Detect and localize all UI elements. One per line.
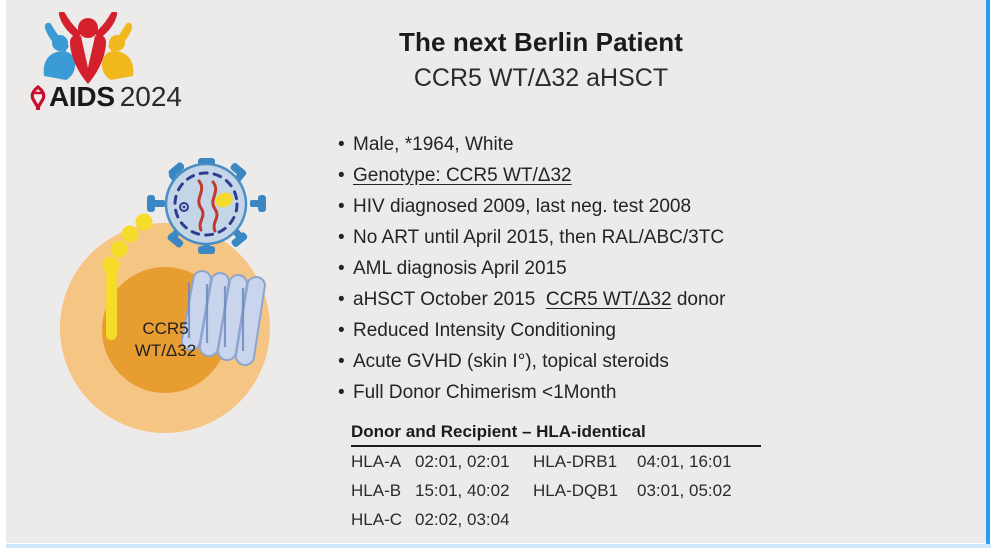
viewer-accent-bar: [986, 0, 990, 546]
bullet-marker-icon: •: [338, 132, 353, 157]
bullet-text: Genotype: CCR5 WT/Δ32: [353, 163, 572, 188]
bullet-marker-icon: •: [338, 287, 353, 312]
bullet-text: aHSCT October 2015 CCR5 WT/Δ32 donor: [353, 287, 725, 312]
bullet-list: • Male, *1964, White • Genotype: CCR5 WT…: [338, 132, 898, 411]
table-row: HLA-C 02:02, 03:04: [351, 505, 761, 534]
hla-locus: HLA-C: [351, 505, 415, 534]
aids-2024-logo: AIDS2024: [28, 12, 198, 112]
hla-table: Donor and Recipient – HLA-identical HLA-…: [351, 421, 761, 534]
table-row: HLA-A 02:01, 02:01 HLA-DRB1 04:01, 16:01: [351, 447, 761, 476]
bullet-marker-icon: •: [338, 194, 353, 219]
aids-ribbon-icon: [28, 82, 48, 110]
bullet-text: HIV diagnosed 2009, last neg. test 2008: [353, 194, 691, 219]
slide-subtitle: CCR5 WT/Δ32 aHSCT: [306, 62, 776, 94]
bullet-marker-icon: •: [338, 256, 353, 281]
hla-locus: HLA-B: [351, 476, 415, 505]
hla-alleles: 02:02, 03:04: [415, 505, 533, 534]
hiv-cell-entry-diagram: CCR5 WT/Δ32: [58, 150, 298, 470]
hla-alleles: 04:01, 16:01: [637, 447, 732, 476]
aids-logo-figures-icon: [36, 12, 141, 84]
bullet-marker-icon: •: [338, 163, 353, 188]
logo-text-year: 2024: [120, 81, 182, 112]
hla-locus: [533, 505, 637, 534]
bullet-item: • Acute GVHD (skin I°), topical steroids: [338, 349, 898, 380]
hla-alleles: 15:01, 40:02: [415, 476, 533, 505]
aids-logo-wordmark: AIDS2024: [28, 82, 182, 112]
bullet-marker-icon: •: [338, 349, 353, 374]
bullet-item: • No ART until April 2015, then RAL/ABC/…: [338, 225, 898, 256]
bullet-text: Male, *1964, White: [353, 132, 514, 157]
diagram-canvas: [58, 150, 298, 470]
bullet-text: Full Donor Chimerism <1Month: [353, 380, 616, 405]
bullet-item: • HIV diagnosed 2009, last neg. test 200…: [338, 194, 898, 225]
slide-title-block: The next Berlin Patient CCR5 WT/Δ32 aHSC…: [306, 26, 776, 94]
hla-locus: HLA-DQB1: [533, 476, 637, 505]
hla-alleles: 03:01, 05:02: [637, 476, 732, 505]
bullet-text: AML diagnosis April 2015: [353, 256, 567, 281]
bullet-item: • Male, *1964, White: [338, 132, 898, 163]
hla-table-header: Donor and Recipient – HLA-identical: [351, 421, 761, 447]
bullet-item: • Full Donor Chimerism <1Month: [338, 380, 898, 411]
table-row: HLA-B 15:01, 40:02 HLA-DQB1 03:01, 05:02: [351, 476, 761, 505]
hla-alleles: 02:01, 02:01: [415, 447, 533, 476]
presentation-slide: AIDS2024 The next Berlin Patient CCR5 WT…: [6, 0, 987, 543]
bullet-item: • AML diagnosis April 2015: [338, 256, 898, 287]
bullet-marker-icon: •: [338, 318, 353, 343]
bullet-text: Reduced Intensity Conditioning: [353, 318, 616, 343]
slide-title: The next Berlin Patient: [306, 26, 776, 58]
hla-locus: HLA-A: [351, 447, 415, 476]
bullet-text: Acute GVHD (skin I°), topical steroids: [353, 349, 669, 374]
logo-text-aids: AIDS: [49, 81, 115, 112]
bullet-marker-icon: •: [338, 380, 353, 405]
hla-locus: HLA-DRB1: [533, 447, 637, 476]
bullet-marker-icon: •: [338, 225, 353, 250]
bullet-item: • aHSCT October 2015 CCR5 WT/Δ32 donor: [338, 287, 898, 318]
bullet-item: • Reduced Intensity Conditioning: [338, 318, 898, 349]
slide-viewer: AIDS2024 The next Berlin Patient CCR5 WT…: [0, 0, 994, 550]
bullet-item: • Genotype: CCR5 WT/Δ32: [338, 163, 898, 194]
bullet-text: No ART until April 2015, then RAL/ABC/3T…: [353, 225, 724, 250]
